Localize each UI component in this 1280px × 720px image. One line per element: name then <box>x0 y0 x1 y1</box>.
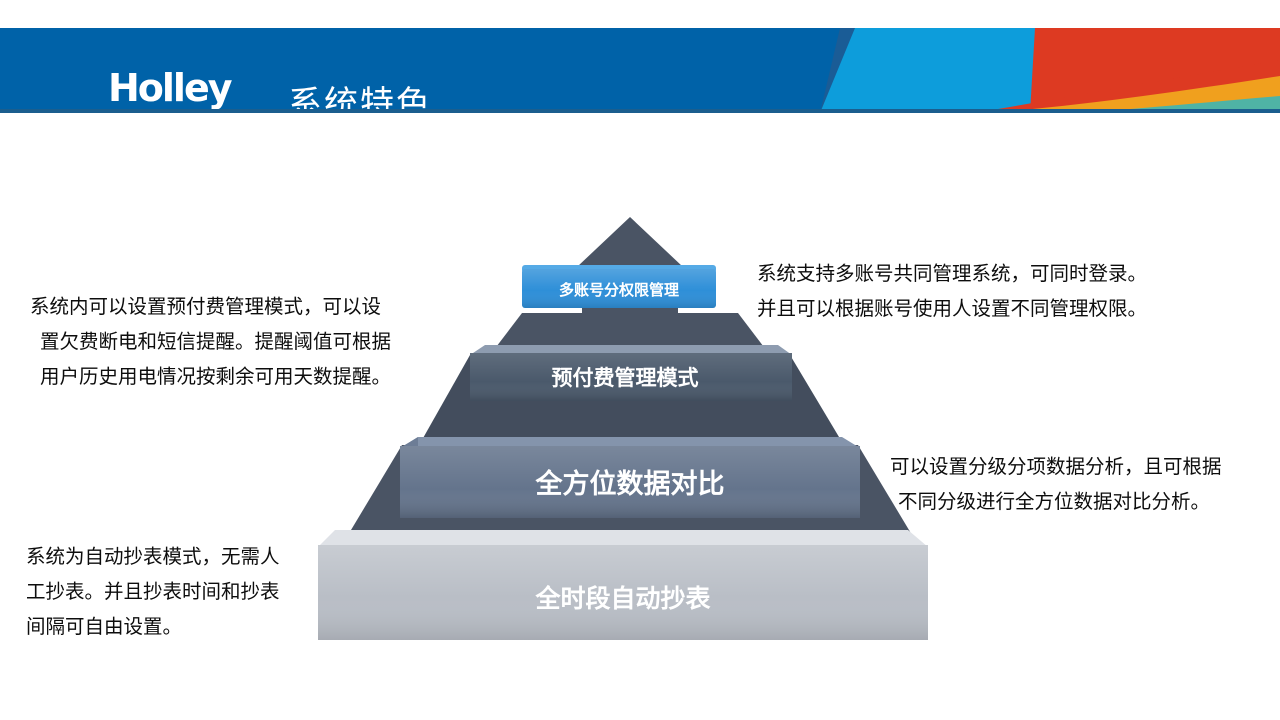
header-underline <box>0 109 1280 113</box>
pyramid-level-2-label: 预付费管理模式 <box>552 366 699 390</box>
holley-logo: Holley TECH 华立科技 <box>108 68 258 113</box>
callout-data-compare-line-2: 不同分级进行全方位数据对比分析。 <box>890 484 1222 519</box>
pyramid-level-3-label: 全方位数据对比 <box>535 468 725 500</box>
callout-auto-reading: 系统为自动抄表模式，无需人 工抄表。并且抄表时间和抄表 间隔可自由设置。 <box>26 539 280 644</box>
callout-multi-account-line-1: 系统支持多账号共同管理系统，可同时登录。 <box>757 256 1147 291</box>
callout-data-compare: 可以设置分级分项数据分析，且可根据 不同分级进行全方位数据对比分析。 <box>890 449 1222 519</box>
pyramid-level-2[interactable]: 预付费管理模式 <box>470 345 792 401</box>
page-title: 系统特色 <box>288 76 432 113</box>
callout-multi-account: 系统支持多账号共同管理系统，可同时登录。 并且可以根据账号使用人设置不同管理权限… <box>757 256 1147 326</box>
pyramid-level-4[interactable]: 全时段自动抄表 <box>318 530 928 640</box>
logo-wordmark: Holley <box>108 68 231 108</box>
callout-auto-reading-line-3: 间隔可自由设置。 <box>26 609 280 644</box>
pyramid-level-4-top-face <box>318 530 928 547</box>
pyramid-level-4-label: 全时段自动抄表 <box>534 584 711 613</box>
pyramid-level-3[interactable]: 全方位数据对比 <box>400 437 860 518</box>
pyramid-level-1-label: 多账号分权限管理 <box>559 281 679 299</box>
callout-prepaid-line-2: 置欠费断电和短信提醒。提醒阈值可根据 <box>30 324 391 359</box>
callout-multi-account-line-2: 并且可以根据账号使用人设置不同管理权限。 <box>757 291 1147 326</box>
callout-prepaid-line-1: 系统内可以设置预付费管理模式，可以设 <box>30 289 391 324</box>
callout-prepaid-line-3: 用户历史用电情况按剩余可用天数提醒。 <box>30 359 391 394</box>
pyramid-level-1[interactable]: 多账号分权限管理 <box>522 265 716 308</box>
callout-data-compare-line-1: 可以设置分级分项数据分析，且可根据 <box>890 449 1222 484</box>
callout-prepaid-mode: 系统内可以设置预付费管理模式，可以设 置欠费断电和短信提醒。提醒阈值可根据 用户… <box>30 289 391 394</box>
header-decorative-swoosh <box>820 28 1280 113</box>
callout-auto-reading-line-1: 系统为自动抄表模式，无需人 <box>26 539 280 574</box>
header-band: Holley TECH 华立科技 系统特色 <box>0 28 1280 113</box>
slide-canvas: Holley TECH 华立科技 系统特色 全方位数据对比 <box>0 0 1280 720</box>
callout-auto-reading-line-2: 工抄表。并且抄表时间和抄表 <box>26 574 280 609</box>
